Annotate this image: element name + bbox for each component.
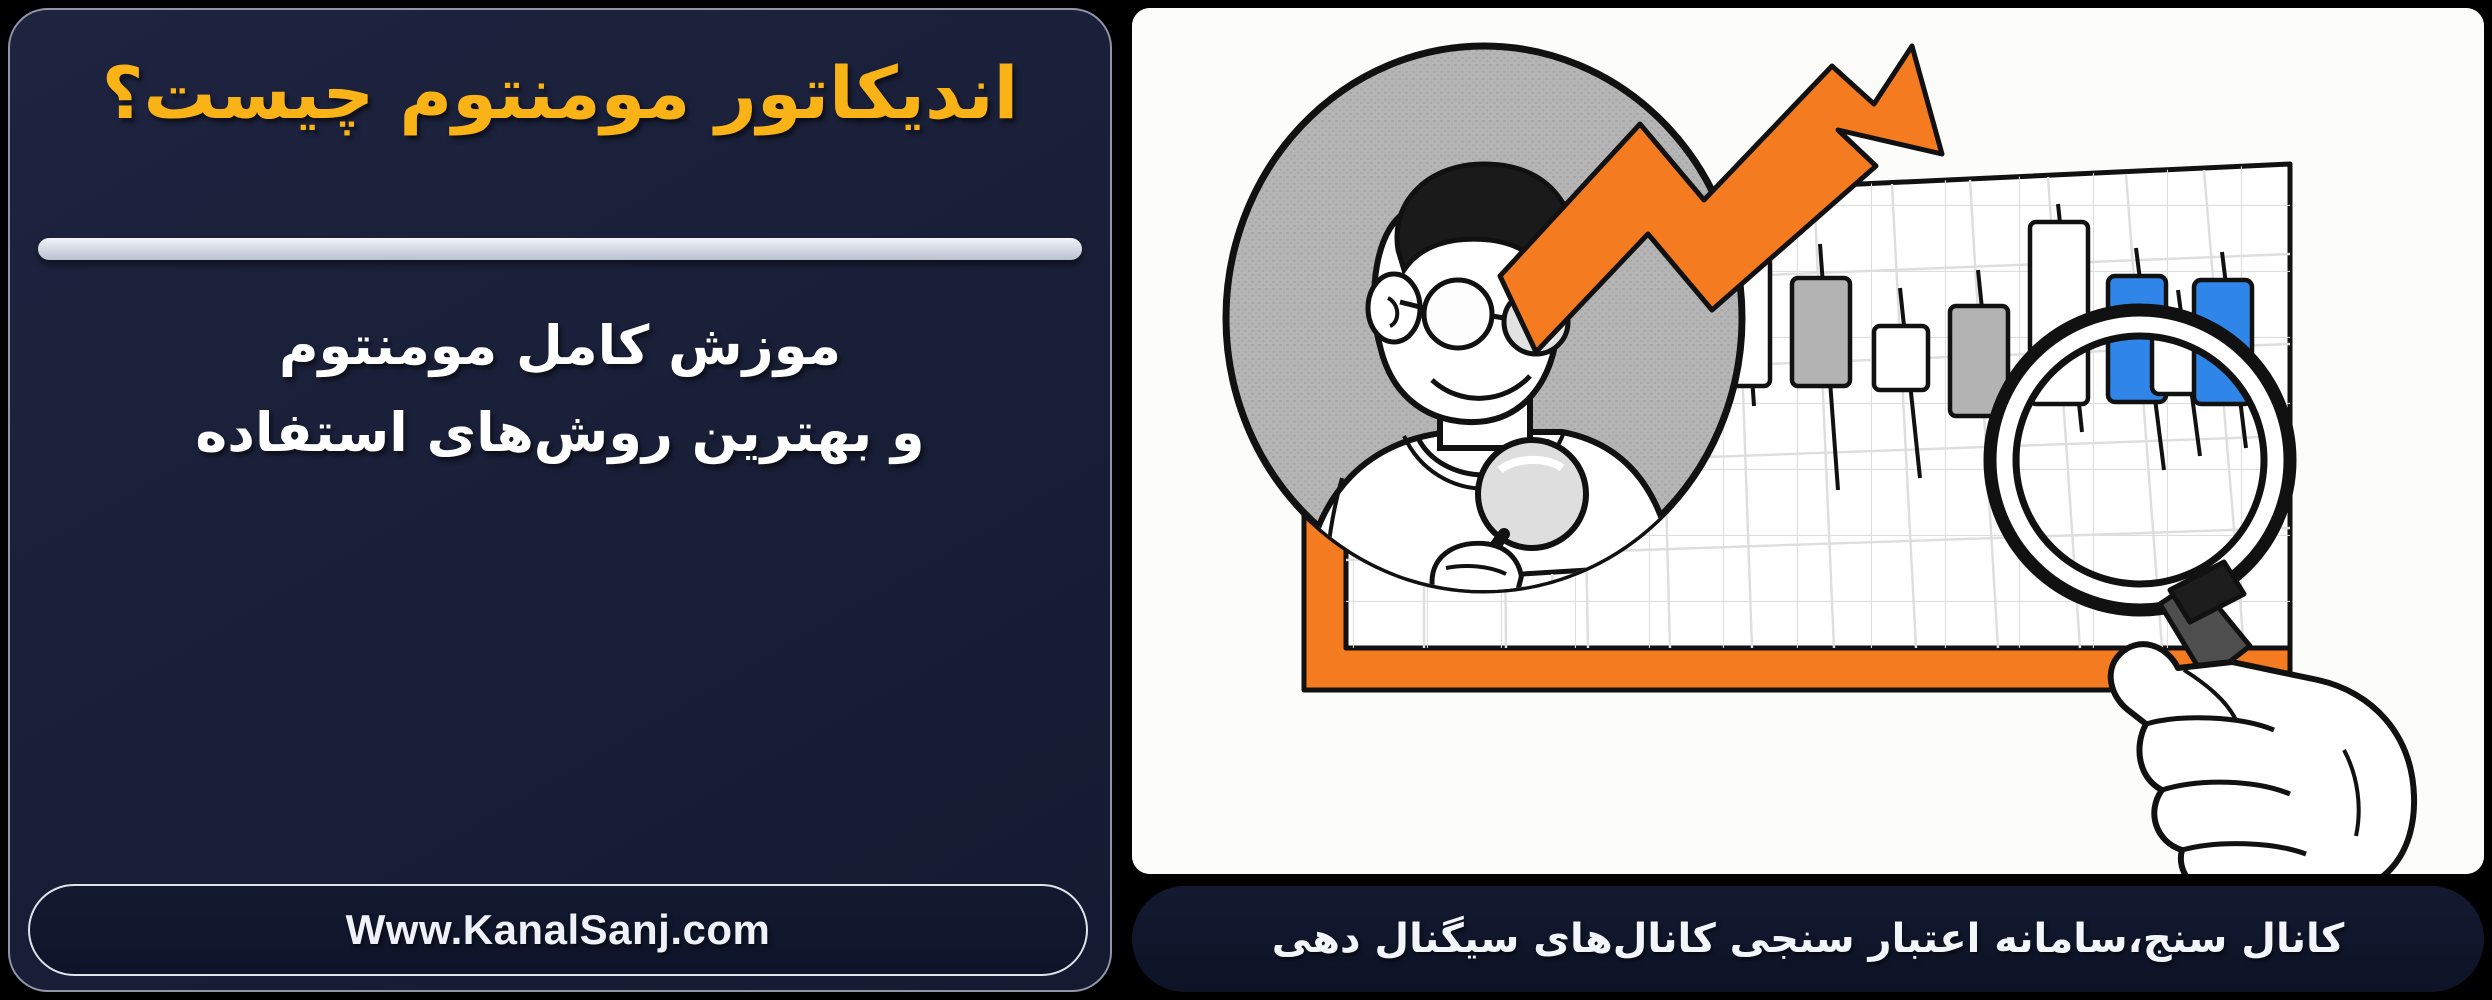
website-url-pill[interactable]: Www.KanalSanj.com [28,884,1088,976]
poster-canvas: اندیکاتور مومنتوم چیست؟ موزش کامل مومنتو… [0,0,2492,1000]
brand-caption-text: کانال سنج،سامانه اعتبار سنجی کانال‌های س… [1272,916,2345,962]
title-divider [38,238,1082,260]
title-block: اندیکاتور مومنتوم چیست؟ [10,48,1110,138]
illustration-panel [1132,8,2484,874]
subtitle-line-2: و بهترین روش‌های استفاده [10,389,1110,476]
trader-illustration [1132,8,2484,874]
website-url-text: Www.KanalSanj.com [346,906,771,954]
page-title: اندیکاتور مومنتوم چیست؟ [10,48,1110,138]
subtitle-block: موزش کامل مومنتوم و بهترین روش‌های استفا… [10,302,1110,477]
left-info-panel: اندیکاتور مومنتوم چیست؟ موزش کامل مومنتو… [8,8,1112,992]
subtitle-line-1: موزش کامل مومنتوم [10,302,1110,389]
brand-caption-pill[interactable]: کانال سنج،سامانه اعتبار سنجی کانال‌های س… [1132,886,2484,992]
